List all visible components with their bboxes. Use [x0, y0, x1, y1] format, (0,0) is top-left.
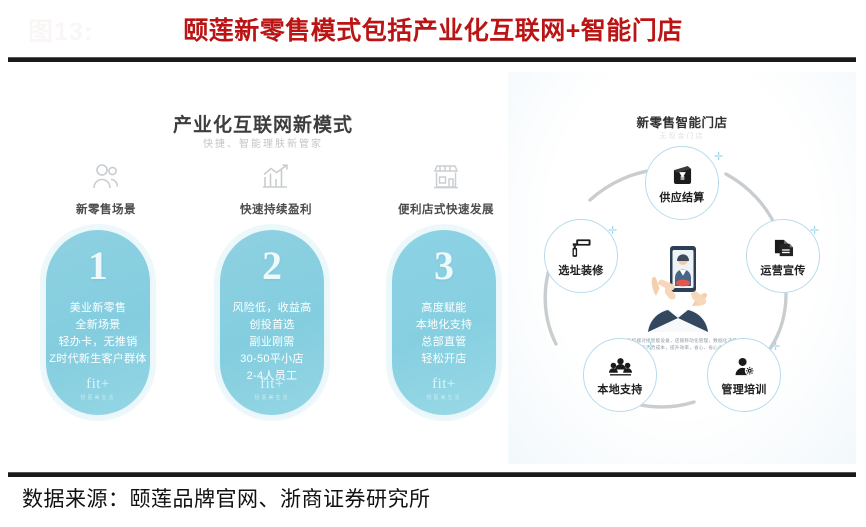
divider-top: [8, 57, 856, 62]
left-panel-heading: 产业化互联网新模式: [8, 110, 518, 137]
right-panel-heading: 新零售智能门店: [508, 112, 856, 131]
people-group-icon: [609, 353, 632, 377]
ring-node-label: 供应结算: [659, 189, 704, 205]
brand-mark: fit+: [392, 376, 496, 393]
brand-mark: fit+: [46, 376, 150, 393]
card-line: 副业刚需: [220, 334, 324, 351]
person-gear-icon: [734, 353, 755, 377]
left-panel: 产业化互联网新模式 快捷、智能理肤新管家 新零售场景: [8, 72, 518, 464]
card-line: 美业新零售: [46, 300, 150, 317]
brand-logo-3: fit+ 轻医美生活: [392, 376, 496, 401]
card-lines-1: 美业新零售 全新场景 轻办卡，无推销 Z时代新生客户群体: [46, 300, 150, 368]
card-line: Z时代新生客户群体: [46, 351, 150, 368]
growth-chart-icon: [206, 160, 346, 194]
card-line: 轻办卡，无推销: [46, 334, 150, 351]
feature-column-1: 新零售场景: [36, 160, 176, 217]
users-icon: [36, 160, 176, 194]
divider-bottom: [8, 472, 856, 477]
card-line: 高度赋能: [392, 300, 496, 317]
brand-mark: fit+: [220, 376, 324, 393]
card-line: 总部直管: [392, 334, 496, 351]
left-panel-subheading: 快捷、智能理肤新管家: [8, 135, 518, 150]
page-title: 颐莲新零售模式包括产业化互联网+智能门店: [0, 11, 866, 47]
card-line: 全新场景: [46, 317, 150, 334]
documents-icon: [773, 234, 794, 258]
ring-node-supply-settlement[interactable]: 供应结算: [645, 146, 719, 220]
storefront-icon: [376, 160, 516, 194]
card-line: 本地化支持: [392, 317, 496, 334]
brand-subtext: 轻医美生活: [46, 394, 150, 401]
ring-node-site-decoration[interactable]: 选址装修: [544, 219, 618, 293]
feature-card-2: 2 风险低，收益高 创投首选 副业刚需 30-50平小店 2-4人员工 fit+…: [220, 230, 324, 415]
capability-ring-diagram: ✛ ✛ ✛ ✛ ✛: [524, 144, 840, 444]
card-line: 创投首选: [220, 317, 324, 334]
card-number-2: 2: [220, 246, 324, 286]
right-panel: 新零售智能门店 无现金门店 ✛ ✛ ✛ ✛ ✛: [508, 72, 856, 464]
source-note: 数据来源：颐莲品牌官网、浙商证券研究所: [22, 483, 431, 513]
feature-column-3: 便利店式快速发展: [376, 160, 516, 217]
ring-node-operations-promotion[interactable]: 运营宣传: [746, 219, 820, 293]
card-line: 风险低，收益高: [220, 300, 324, 317]
feature-column-2: 快速持续盈利: [206, 160, 346, 217]
feature-label-2: 快速持续盈利: [206, 201, 346, 217]
sparkle-icon: ✛: [714, 152, 723, 163]
ring-node-local-support[interactable]: 本地支持: [583, 338, 657, 412]
brand-logo-1: fit+ 轻医美生活: [46, 376, 150, 401]
wallet-icon: [672, 161, 693, 185]
ring-node-label: 本地支持: [597, 381, 642, 397]
paint-roller-icon: [570, 234, 592, 258]
card-number-3: 3: [392, 246, 496, 286]
feature-label-3: 便利店式快速发展: [376, 201, 516, 217]
feature-card-3: 3 高度赋能 本地化支持 总部直管 轻松开店 fit+ 轻医美生活: [392, 230, 496, 415]
card-line: 30-50平小店: [220, 351, 324, 368]
figure-canvas: 产业化互联网新模式 快捷、智能理肤新管家 新零售场景: [8, 72, 856, 464]
ring-node-label: 运营宣传: [760, 262, 805, 278]
ring-node-label: 管理培训: [721, 381, 766, 397]
feature-card-1: 1 美业新零售 全新场景 轻办卡，无推销 Z时代新生客户群体 fit+ 轻医美生…: [46, 230, 150, 415]
ring-node-label: 选址装修: [558, 262, 603, 278]
card-lines-2: 风险低，收益高 创投首选 副业刚需 30-50平小店 2-4人员工: [220, 300, 324, 385]
brand-subtext: 轻医美生活: [220, 394, 324, 401]
right-panel-subheading: 无现金门店: [508, 131, 856, 141]
card-line: 轻松开店: [392, 351, 496, 368]
brand-subtext: 轻医美生活: [392, 394, 496, 401]
hands-holding-phone-illustration: [634, 244, 730, 336]
card-number-1: 1: [46, 246, 150, 286]
card-lines-3: 高度赋能 本地化支持 总部直管 轻松开店: [392, 300, 496, 368]
brand-logo-2: fit+ 轻医美生活: [220, 376, 324, 401]
feature-label-1: 新零售场景: [36, 201, 176, 217]
ring-node-management-training[interactable]: 管理培训: [707, 338, 781, 412]
